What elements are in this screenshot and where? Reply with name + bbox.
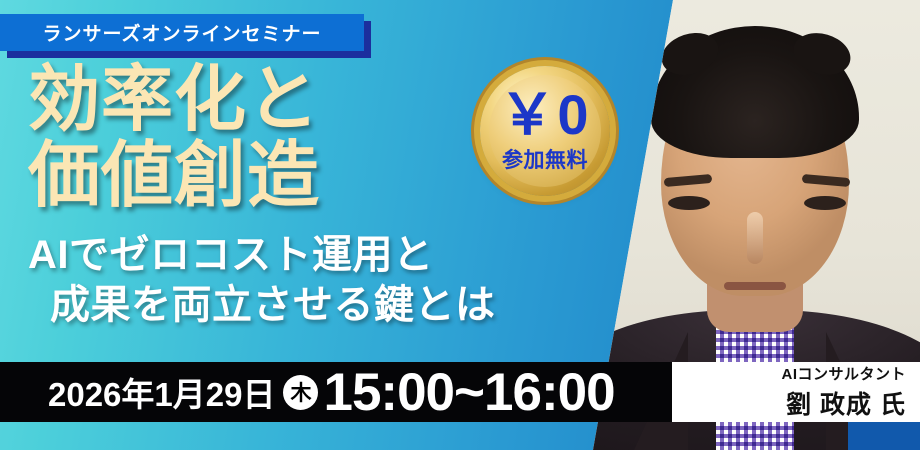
nose — [747, 212, 763, 264]
weekday-badge: 木 — [283, 375, 318, 410]
eye-left — [668, 196, 710, 210]
event-datetime-bar: 2026年1月29日 木 15:00~16:00 — [0, 362, 690, 422]
mouth — [724, 282, 786, 290]
event-time: 15:00~16:00 — [323, 366, 614, 419]
speaker-hair — [651, 26, 859, 158]
page-subtitle: AIでゼロコスト運用と 成果を両立させる鍵とは — [28, 230, 496, 330]
badge-label: ランサーズオンラインセミナー — [42, 19, 321, 46]
corner-accent-block — [848, 422, 920, 450]
subtitle-line-1: AIでゼロコスト運用と — [28, 230, 496, 280]
speaker-name: 劉 政成 氏 — [786, 385, 906, 421]
coin-note: 参加無料 — [502, 144, 588, 174]
seminar-banner: ランサーズオンラインセミナー 効率化と 価値創造 AIでゼロコスト運用と 成果を… — [0, 0, 920, 450]
badge-box: ランサーズオンラインセミナー — [0, 14, 364, 51]
free-price-coin-icon: ￥0 参加無料 — [480, 66, 610, 196]
subtitle-line-2: 成果を両立させる鍵とは — [28, 280, 496, 330]
headline-line-1: 効率化と — [28, 62, 320, 138]
speaker-name-plate: AIコンサルタント 劉 政成 氏 — [672, 362, 920, 422]
event-date: 2026年1月29日 — [48, 368, 275, 416]
page-title: 効率化と 価値創造 — [28, 62, 320, 214]
eye-right — [804, 196, 846, 210]
speaker-role: AIコンサルタント — [781, 363, 906, 384]
seminar-badge: ランサーズオンラインセミナー — [0, 14, 364, 51]
coin-price: ￥0 — [499, 88, 590, 141]
headline-line-2: 価値創造 — [28, 138, 320, 214]
